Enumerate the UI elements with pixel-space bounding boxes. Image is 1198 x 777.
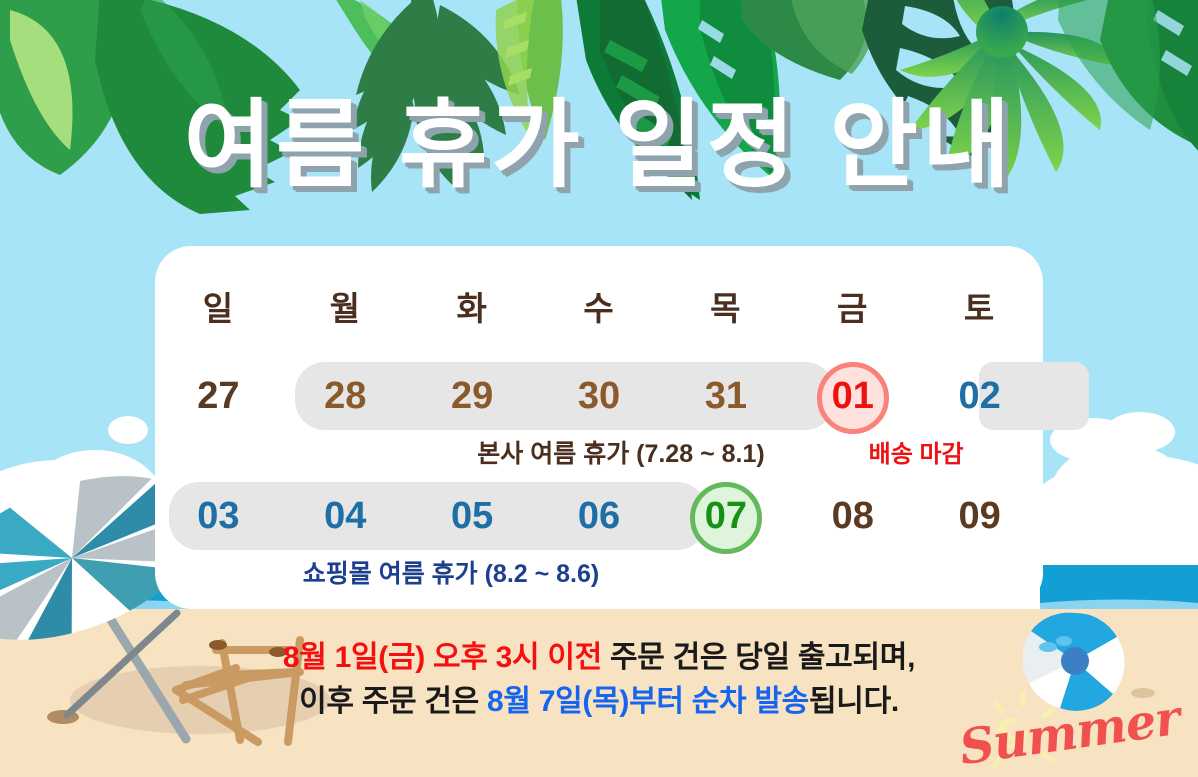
weekday-header-fri: 금 <box>789 282 916 330</box>
weekday-label: 일 <box>203 290 234 327</box>
notice-line2-prefix: 이후 주문 건은 <box>299 685 487 718</box>
weekday-label: 목 <box>710 290 741 327</box>
hq-vacation-note: 본사 여름 휴가 (7.28 ~ 8.1) <box>411 434 831 470</box>
day-number: 06 <box>536 482 663 550</box>
day-number: 02 <box>916 362 1043 430</box>
notice-line1-rest: 주문 건은 당일 출고되며, <box>602 641 915 674</box>
weekday-label: 금 <box>837 290 868 327</box>
day-number: 29 <box>409 362 536 430</box>
day-number: 09 <box>916 482 1043 550</box>
day-number: 30 <box>536 362 663 430</box>
calendar-card: 일 월 화 수 목 금 토 <box>155 246 1043 609</box>
delivery-cutoff-note: 배송 마감 <box>853 434 980 469</box>
weekday-header-thu: 목 <box>662 282 789 330</box>
day-number: 01 <box>789 362 916 430</box>
calendar-grid: 일 월 화 수 목 금 토 <box>155 246 1043 609</box>
notice-highlight-cutoff: 8월 1일(금) 오후 3시 이전 <box>283 641 602 674</box>
weekday-header-sun: 일 <box>155 282 282 330</box>
day-number: 03 <box>155 482 282 550</box>
notice-line2-suffix: 됩니다. <box>809 685 899 718</box>
weekday-header-sat: 토 <box>916 282 1043 330</box>
shipping-notice-line-1: 8월 1일(금) 오후 3시 이전 주문 건은 당일 출고되며, <box>0 636 1198 680</box>
calendar-day-28[interactable]: 28 <box>282 354 409 474</box>
shop-vacation-note: 쇼핑몰 여름 휴가 (8.2 ~ 8.6) <box>241 554 661 590</box>
weekday-header-mon: 월 <box>282 282 409 330</box>
day-number: 04 <box>282 482 409 550</box>
calendar-day-27[interactable]: 27 <box>155 354 282 474</box>
day-number: 27 <box>155 362 282 430</box>
day-number: 28 <box>282 362 409 430</box>
poster-title-wrap: 여름 휴가 일정 안내 <box>0 96 1198 197</box>
calendar-day-07[interactable]: 07 <box>662 474 789 594</box>
calendar-day-09[interactable]: 09 <box>916 474 1043 594</box>
calendar-day-08[interactable]: 08 <box>789 474 916 594</box>
weekday-label: 월 <box>330 290 361 327</box>
day-number: 31 <box>662 362 789 430</box>
weekday-label: 화 <box>456 290 487 327</box>
notice-highlight-resume: 8월 7일(목)부터 순차 발송 <box>487 685 809 718</box>
weekday-header-wed: 수 <box>536 282 663 330</box>
weekday-header-row: 일 월 화 수 목 금 토 <box>155 282 1043 330</box>
poster-canvas: 여름 휴가 일정 안내 일 월 화 수 목 <box>0 0 1198 777</box>
weekday-label: 수 <box>583 290 614 327</box>
day-number: 07 <box>662 482 789 550</box>
page-title: 여름 휴가 일정 안내 <box>184 96 1015 197</box>
day-number: 08 <box>789 482 916 550</box>
day-number: 05 <box>409 482 536 550</box>
weekday-header-tue: 화 <box>409 282 536 330</box>
weekday-label: 토 <box>964 290 995 327</box>
